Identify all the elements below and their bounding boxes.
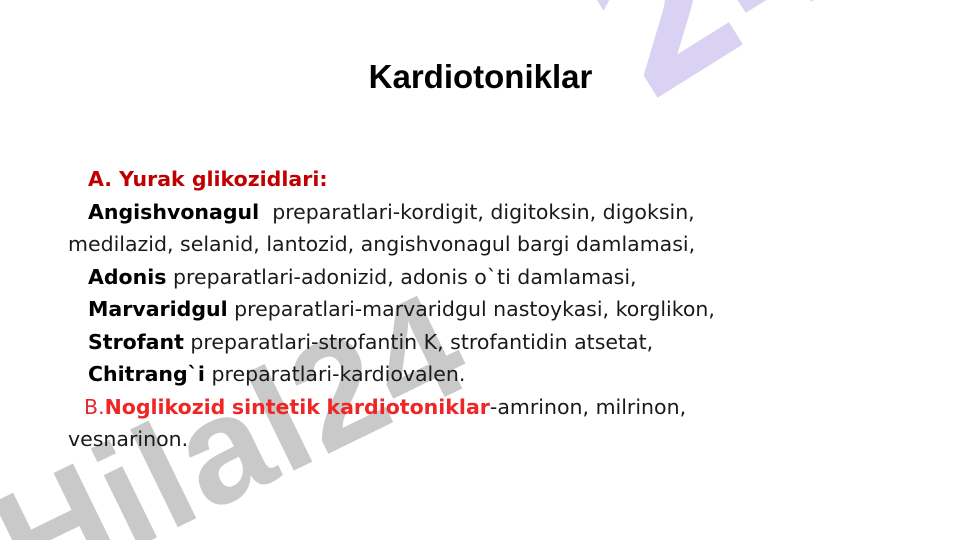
- term-marvaridgul: Marvaridgul: [88, 297, 228, 321]
- slide-body: A. Yurak glikozidlari: Angishvonagul pre…: [68, 163, 892, 456]
- slide-canvas: 24 Hilal24 Kardiotoniklar A. Yurak gliko…: [0, 0, 961, 540]
- section-b-label: B.: [84, 395, 105, 419]
- entry-line-adonis: Adonis preparatlari-adonizid, adonis o`t…: [68, 261, 892, 294]
- section-b-text-amrinon: -amrinon,: [490, 395, 589, 419]
- term-angishvonagul: Angishvonagul: [88, 200, 259, 224]
- entry-text-angishvonagul-cont: medilazid, selanid, lantozid, angishvona…: [68, 232, 695, 256]
- entry-text-chitrangi: preparatlari-kardiovalen.: [205, 362, 465, 386]
- term-chitrangi: Chitrang`i: [88, 362, 205, 386]
- section-b-text-vesnarinon: vesnarinon.: [68, 427, 188, 451]
- section-b-heading-cont: vesnarinon.: [68, 423, 892, 456]
- entry-text-strofant: preparatlari-strofantin K, strofantidin …: [184, 330, 653, 354]
- term-adonis: Adonis: [88, 265, 166, 289]
- entry-line-strofant: Strofant preparatlari-strofantin K, stro…: [68, 326, 892, 359]
- section-b-word-sintetik: sintetik: [232, 395, 320, 419]
- entry-text-angishvonagul: preparatlari-kordigit, digitoksin, digok…: [272, 200, 695, 224]
- term-strofant: Strofant: [88, 330, 184, 354]
- section-b-word-noglikozid: Noglikozid: [105, 395, 226, 419]
- section-a-heading: A. Yurak glikozidlari:: [88, 167, 328, 191]
- entry-text-adonis: preparatlari-adonizid, adonis o`ti damla…: [166, 265, 636, 289]
- entry-line-angishvonagul-cont: medilazid, selanid, lantozid, angishvona…: [68, 228, 892, 261]
- entry-line-chitrangi: Chitrang`i preparatlari-kardiovalen.: [68, 358, 892, 391]
- entry-line-angishvonagul: Angishvonagul preparatlari-kordigit, dig…: [68, 196, 892, 229]
- section-b-heading-line: B.Noglikozid sintetik kardiotoniklar-amr…: [68, 391, 892, 424]
- page-title: Kardiotoniklar: [0, 57, 961, 97]
- entry-line-marvaridgul: Marvaridgul preparatlari-marvaridgul nas…: [68, 293, 892, 326]
- section-a-heading-line: A. Yurak glikozidlari:: [68, 163, 892, 196]
- section-b-text-milrinon: milrinon,: [596, 395, 687, 419]
- section-b-word-kardiotoniklar: kardiotoniklar: [326, 395, 489, 419]
- entry-text-marvaridgul: preparatlari-marvaridgul nastoykasi, kor…: [228, 297, 715, 321]
